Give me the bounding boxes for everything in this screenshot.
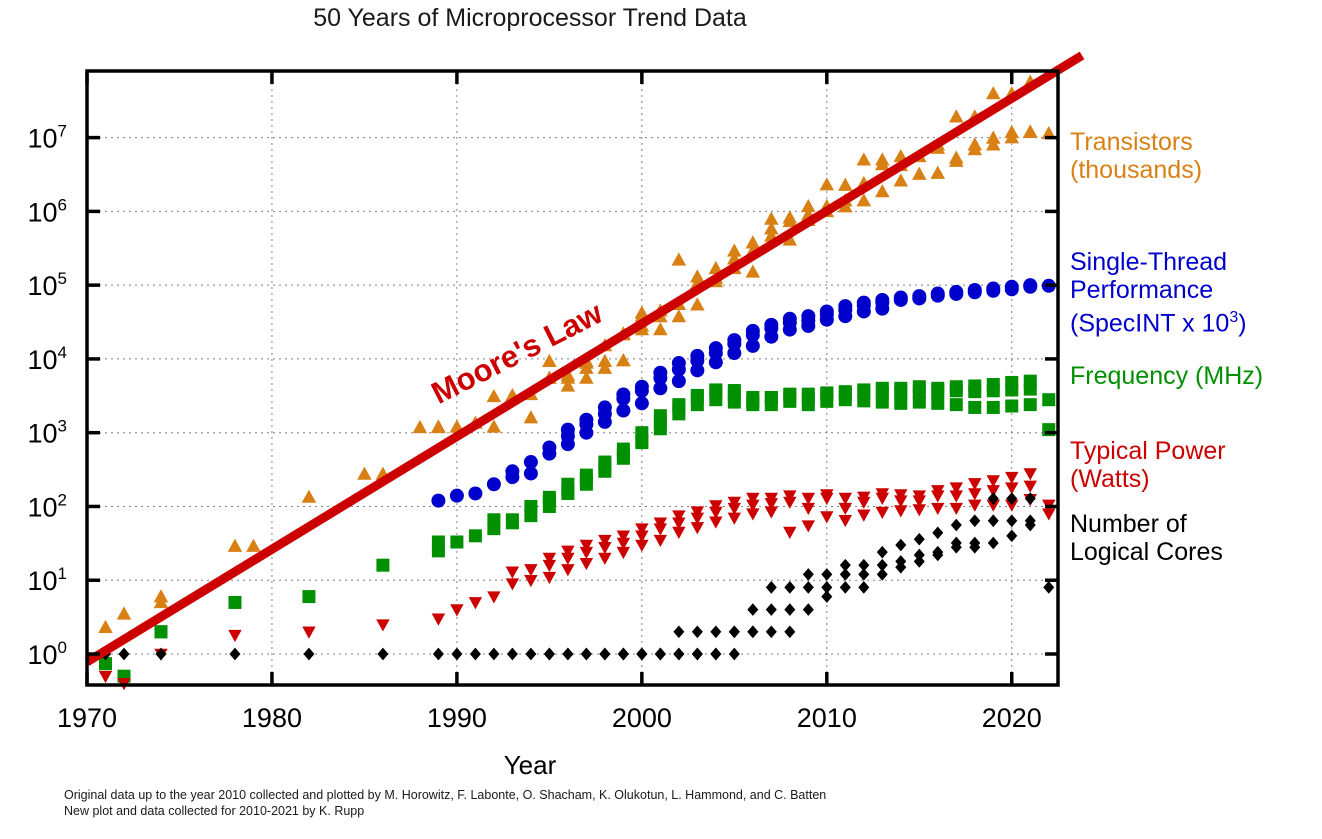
y-tick-label: 100: [27, 638, 67, 670]
data-point: [598, 542, 611, 554]
data-point: [820, 511, 833, 523]
data-point: [876, 493, 889, 505]
data-point: [542, 440, 556, 454]
data-point: [950, 490, 963, 502]
data-point: [968, 283, 982, 297]
data-point: [654, 535, 667, 547]
data-point: [746, 264, 761, 277]
data-point: [931, 503, 944, 515]
data-point: [433, 648, 444, 661]
data-point: [228, 596, 241, 609]
data-point: [968, 488, 981, 500]
data-point: [913, 504, 926, 516]
data-point: [431, 420, 446, 433]
data-point: [653, 322, 668, 335]
data-point: [488, 648, 499, 661]
data-point: [876, 507, 889, 519]
data-point: [803, 603, 814, 616]
data-point: [857, 394, 870, 407]
data-point: [616, 403, 630, 417]
legend-item-label: (thousands): [1070, 156, 1202, 184]
data-point: [857, 304, 871, 318]
data-point: [487, 389, 502, 402]
data-point: [802, 398, 815, 411]
x-tick-label: 1980: [242, 703, 302, 733]
data-point: [931, 385, 944, 398]
data-point: [968, 500, 981, 512]
data-point: [894, 505, 907, 517]
data-point: [875, 152, 890, 165]
data-point: [377, 648, 388, 661]
series-diamond: [100, 492, 1054, 660]
data-point: [839, 503, 852, 515]
legend-item-frequency: Frequency (MHz): [1070, 362, 1263, 390]
data-point: [894, 173, 909, 186]
data-point: [746, 339, 760, 353]
data-point: [506, 578, 519, 590]
data-point: [617, 452, 630, 465]
data-point: [765, 506, 778, 518]
moores-law-label: Moore's Law: [426, 295, 609, 411]
data-point: [710, 648, 721, 661]
data-point: [229, 648, 240, 661]
data-point: [487, 477, 501, 491]
data-point: [709, 516, 722, 528]
data-point: [690, 297, 705, 310]
data-point: [876, 396, 889, 409]
legend-item-label: Single-Thread: [1070, 248, 1247, 276]
data-point: [784, 581, 795, 594]
data-point: [1043, 581, 1054, 594]
x-axis-title: Year: [0, 750, 1060, 781]
data-point: [987, 401, 1000, 414]
x-tick-label: 2000: [612, 703, 672, 733]
data-point: [580, 558, 593, 570]
data-point: [487, 591, 500, 603]
data-point: [764, 318, 778, 332]
data-point: [672, 309, 687, 322]
data-point: [636, 648, 647, 661]
data-point: [765, 398, 778, 411]
data-point: [561, 564, 574, 576]
data-point: [561, 487, 574, 500]
data-point: [524, 500, 537, 513]
data-point: [766, 603, 777, 616]
data-point: [968, 401, 981, 414]
y-tick-label: 101: [27, 564, 67, 596]
data-point: [709, 341, 723, 355]
data-point: [747, 625, 758, 638]
data-point: [246, 539, 261, 552]
data-point: [673, 648, 684, 661]
data-point: [950, 398, 963, 411]
data-point: [524, 466, 538, 480]
chart-page: 50 Years of Microprocessor Trend Data 10…: [0, 0, 1322, 839]
data-point: [729, 648, 740, 661]
series-square: [99, 375, 1055, 683]
data-point: [875, 184, 890, 197]
data-point: [838, 309, 852, 323]
data-point: [988, 514, 999, 527]
data-point: [710, 625, 721, 638]
data-point: [450, 535, 463, 548]
data-point: [727, 333, 741, 347]
legend-item-logical-cores: Number ofLogical Cores: [1070, 510, 1223, 566]
data-point: [561, 437, 575, 451]
data-point: [691, 522, 704, 534]
data-point: [98, 620, 113, 633]
data-point: [820, 313, 834, 327]
legend-item-label: (SpecINT x 103): [1070, 304, 1247, 337]
x-tick-label: 1990: [427, 703, 487, 733]
data-point: [949, 150, 964, 163]
data-point: [803, 581, 814, 594]
data-point: [672, 252, 687, 265]
data-point: [784, 625, 795, 638]
data-point: [376, 559, 389, 572]
data-point: [931, 490, 944, 502]
data-point: [598, 415, 612, 429]
data-point: [635, 396, 649, 410]
data-point: [764, 330, 778, 344]
data-point: [727, 243, 742, 256]
data-point: [764, 212, 779, 225]
data-point: [746, 235, 761, 248]
data-point: [839, 393, 852, 406]
data-point: [1005, 383, 1018, 396]
data-point: [766, 625, 777, 638]
data-point: [376, 619, 389, 631]
data-point: [766, 581, 777, 594]
data-point: [1005, 472, 1018, 484]
data-point: [524, 575, 537, 587]
data-point: [914, 533, 925, 546]
legend-item-single-thread: Single-ThreadPerformance(SpecINT x 103): [1070, 248, 1247, 337]
data-point: [543, 572, 556, 584]
data-point: [1005, 280, 1019, 294]
data-point: [839, 515, 852, 527]
data-point: [581, 648, 592, 661]
data-point: [524, 410, 539, 423]
data-point: [654, 422, 667, 435]
data-point: [820, 493, 833, 505]
data-point: [635, 433, 648, 446]
data-point: [617, 547, 630, 559]
data-point: [672, 527, 685, 539]
data-point: [969, 514, 980, 527]
legend-item-label: (Watts): [1070, 465, 1226, 493]
data-point: [579, 413, 593, 427]
data-point: [912, 167, 927, 180]
data-point: [580, 478, 593, 491]
data-point: [877, 559, 888, 572]
data-point: [468, 486, 482, 500]
data-point: [654, 409, 667, 422]
data-point: [469, 529, 482, 542]
data-point: [987, 384, 1000, 397]
data-point: [1023, 278, 1037, 292]
data-point: [635, 384, 649, 398]
data-point: [1006, 514, 1017, 527]
data-point: [228, 630, 241, 642]
data-point: [746, 324, 760, 338]
x-tick-label: 2020: [982, 703, 1042, 733]
x-tick-label: 1970: [57, 703, 117, 733]
data-point: [801, 319, 815, 333]
y-tick-label: 103: [27, 417, 67, 449]
data-point: [543, 560, 556, 572]
data-point: [302, 627, 315, 639]
data-point: [951, 519, 962, 532]
data-point: [746, 508, 759, 520]
data-point: [543, 494, 556, 507]
data-point: [802, 520, 815, 532]
legend-item-label: Logical Cores: [1070, 538, 1223, 566]
data-point: [432, 614, 445, 626]
data-point: [858, 568, 869, 581]
data-point: [857, 510, 870, 522]
data-point: [690, 269, 705, 282]
data-point: [895, 539, 906, 552]
footnote-line-1: Original data up to the year 2010 collec…: [64, 788, 1264, 804]
data-point: [727, 346, 741, 360]
data-point: [709, 355, 723, 369]
data-point: [783, 395, 796, 408]
data-point: [1024, 468, 1037, 480]
data-point: [986, 86, 1001, 99]
footnote-line-2: New plot and data collected for 2010-202…: [64, 804, 1264, 820]
data-point: [432, 535, 445, 548]
data-point: [838, 178, 853, 191]
data-point: [1024, 481, 1037, 493]
data-point: [599, 648, 610, 661]
data-point: [912, 289, 926, 303]
moores-law-trendline: [87, 55, 1082, 662]
data-point: [820, 395, 833, 408]
data-point: [1005, 400, 1018, 413]
data-point: [672, 374, 686, 388]
data-point: [949, 109, 964, 122]
data-point: [783, 323, 797, 337]
data-point: [914, 549, 925, 562]
data-point: [505, 464, 519, 478]
data-point: [857, 497, 870, 509]
legend-item-label: Number of: [1070, 510, 1223, 538]
data-point: [302, 590, 315, 603]
data-point: [894, 397, 907, 410]
data-point: [654, 523, 667, 535]
data-point: [154, 589, 169, 602]
data-point: [820, 177, 835, 190]
data-point: [931, 397, 944, 410]
data-point: [729, 625, 740, 638]
data-point: [728, 396, 741, 409]
data-point: [802, 503, 815, 515]
data-point: [672, 356, 686, 370]
data-point: [747, 603, 758, 616]
legend-item-label: Transistors: [1070, 128, 1202, 156]
data-point: [803, 568, 814, 581]
data-point: [117, 606, 132, 619]
data-point: [635, 540, 648, 552]
data-point: [1023, 124, 1038, 137]
data-point: [618, 648, 629, 661]
data-point: [1024, 383, 1037, 396]
data-point: [580, 547, 593, 559]
data-point: [950, 384, 963, 397]
data-point: [691, 398, 704, 411]
data-point: [413, 420, 428, 433]
data-point: [524, 564, 537, 576]
data-point: [544, 648, 555, 661]
data-point: [857, 152, 872, 165]
data-point: [616, 387, 630, 401]
data-point: [801, 199, 816, 212]
legend-item-label: Performance: [1070, 276, 1247, 304]
data-point: [746, 398, 759, 411]
data-point: [783, 210, 798, 223]
data-point: [154, 625, 167, 638]
data-point: [431, 494, 445, 508]
data-point: [728, 513, 741, 525]
data-point: [1042, 508, 1055, 520]
series-triangle-down: [99, 468, 1056, 690]
data-point: [894, 291, 908, 305]
data-point: [932, 526, 943, 539]
data-point: [1006, 529, 1017, 542]
data-point: [450, 604, 463, 616]
data-point: [470, 648, 481, 661]
data-point: [690, 349, 704, 363]
data-point: [561, 553, 574, 565]
y-tick-label: 106: [27, 195, 67, 227]
data-point: [840, 568, 851, 581]
data-point: [821, 568, 832, 581]
data-point: [968, 385, 981, 398]
data-point: [561, 423, 575, 437]
data-point: [598, 400, 612, 414]
legend-item-label: Frequency (MHz): [1070, 362, 1263, 390]
data-point: [690, 363, 704, 377]
footnote: Original data up to the year 2010 collec…: [64, 788, 1264, 819]
data-point: [1024, 398, 1037, 411]
data-point: [931, 287, 945, 301]
x-tick-label: 2010: [797, 703, 857, 733]
data-point: [469, 597, 482, 609]
data-point: [506, 567, 519, 579]
data-point: [858, 581, 869, 594]
data-point: [1042, 393, 1055, 406]
data-point: [709, 393, 722, 406]
data-point: [525, 648, 536, 661]
data-point: [784, 603, 795, 616]
data-point: [451, 648, 462, 661]
data-point: [598, 354, 613, 367]
data-point: [228, 539, 243, 552]
data-point: [507, 648, 518, 661]
data-point: [506, 513, 519, 526]
legend-item-typical-power: Typical Power(Watts): [1070, 437, 1226, 493]
data-point: [598, 553, 611, 565]
data-point: [99, 671, 112, 683]
data-point: [986, 137, 1001, 150]
data-point: [579, 426, 593, 440]
data-point: [118, 648, 129, 661]
y-tick-label: 104: [27, 343, 67, 375]
data-point: [655, 648, 666, 661]
data-point: [913, 396, 926, 409]
data-point: [821, 581, 832, 594]
data-point: [783, 497, 796, 509]
y-tick-label: 107: [27, 122, 67, 154]
data-point: [303, 648, 314, 661]
data-point: [692, 625, 703, 638]
legend-item-transistors: Transistors(thousands): [1070, 128, 1202, 184]
data-point: [950, 503, 963, 515]
data-point: [783, 527, 796, 539]
data-point: [877, 546, 888, 559]
data-point: [949, 285, 963, 299]
data-point: [653, 366, 667, 380]
data-point: [357, 467, 372, 480]
data-point: [598, 460, 611, 473]
data-point: [931, 166, 946, 179]
data-point: [986, 282, 1000, 296]
data-point: [302, 490, 317, 503]
legend-item-label: Typical Power: [1070, 437, 1226, 465]
data-point: [653, 381, 667, 395]
data-point: [840, 581, 851, 594]
data-point: [692, 648, 703, 661]
data-point: [450, 489, 464, 503]
data-point: [616, 353, 631, 366]
plot-area: 1001011021031041051061071970198019902000…: [0, 0, 1322, 839]
data-point: [967, 137, 982, 150]
data-point: [875, 302, 889, 316]
data-point: [988, 537, 999, 550]
data-point: [562, 648, 573, 661]
y-tick-label: 105: [27, 269, 67, 301]
data-point: [673, 625, 684, 638]
y-tick-label: 102: [27, 490, 67, 522]
data-point: [487, 513, 500, 526]
data-point: [672, 407, 685, 420]
